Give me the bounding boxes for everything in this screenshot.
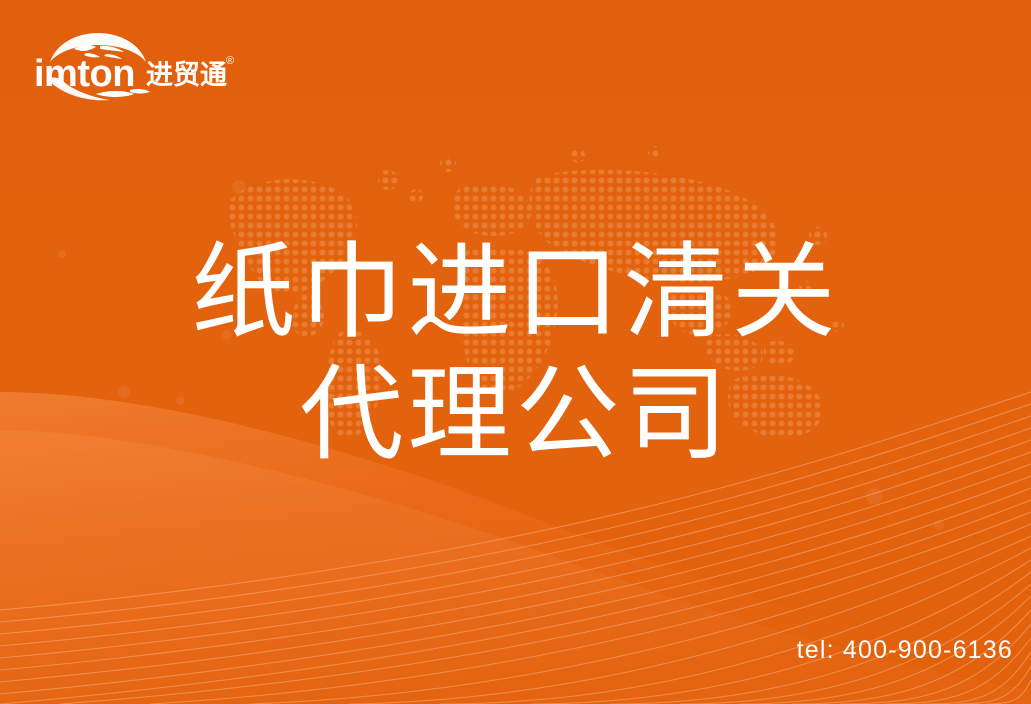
imton-logo[interactable]: imton 进贸通 ®: [34, 28, 264, 106]
logo-wordmark: imton: [34, 53, 135, 95]
registered-trademark-icon: ®: [226, 55, 234, 67]
poster-canvas: imton 进贸通 ® 纸巾进口清关 代理公司 tel: 400-900-613…: [0, 0, 1031, 704]
contact-phone[interactable]: tel: 400-900-6136: [797, 636, 1013, 665]
page-title: 纸巾进口清关 代理公司: [0, 232, 1031, 476]
logo-chinese-name: 进贸通: [146, 60, 227, 90]
page-title-line-2: 代理公司: [0, 354, 1031, 476]
page-title-line-1: 纸巾进口清关: [0, 232, 1031, 354]
